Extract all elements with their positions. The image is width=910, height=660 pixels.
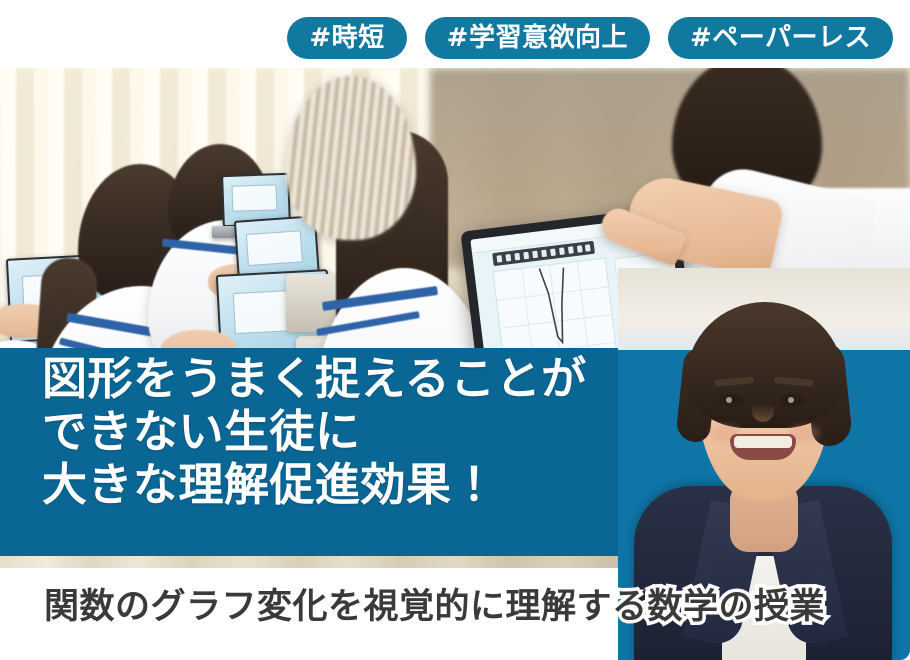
tag-row: #時短 #学習意欲向上 #ペーパーレス [0, 17, 910, 59]
tag-paperless[interactable]: #ペーパーレス [668, 17, 893, 59]
photo-caption: 関数のグラフ変化を視覚的に理解する数学の授業 [44, 578, 825, 629]
portrait-eye-right [780, 394, 806, 407]
portrait-eye-left [718, 394, 744, 407]
tag-gakushu-iyoku-kojo[interactable]: #学習意欲向上 [425, 17, 650, 59]
portrait-mouth [730, 434, 796, 460]
case-study-card: #時短 #学習意欲向上 #ペーパーレス [0, 0, 910, 660]
portrait-teeth [734, 436, 792, 448]
tablet-window [231, 185, 277, 212]
tag-jitan[interactable]: #時短 [287, 17, 406, 59]
tag-jitan-label: #時短 [309, 25, 384, 51]
tablet-window [246, 230, 303, 265]
tag-gakushu-iyoku-kojo-label: #学習意欲向上 [447, 25, 628, 51]
tag-paperless-label: #ペーパーレス [690, 25, 871, 51]
headline-text: 図形をうまく捉えることが できない生徒に 大きな理解促進効果！ [42, 352, 587, 511]
